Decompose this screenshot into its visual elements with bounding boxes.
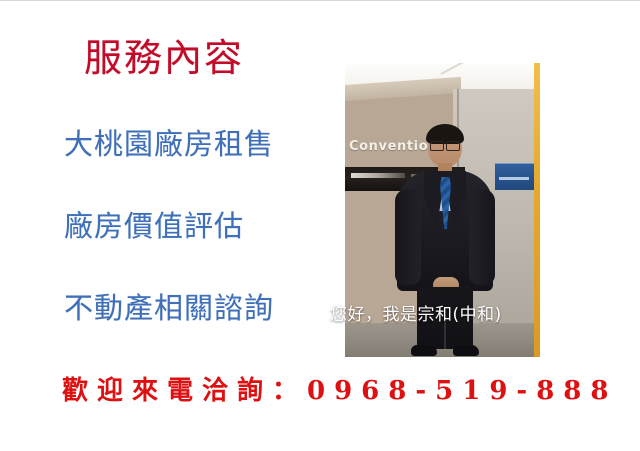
plaque-text-line — [499, 177, 529, 180]
glasses-icon — [430, 141, 460, 149]
service-list: 大桃園廠房租售 廠房價值評估 不動產相關諮詢 — [64, 127, 324, 325]
service-item-3: 不動產相關諮詢 — [64, 291, 324, 325]
service-item-2: 廠房價值評估 — [64, 209, 324, 243]
shoe-right — [453, 345, 479, 356]
contact-phone-line: 歡迎來電洽詢：0968-519-888 — [62, 375, 618, 407]
service-item-1: 大桃園廠房租售 — [64, 127, 324, 161]
arm-left — [395, 189, 421, 285]
gold-accent-strip — [534, 63, 540, 357]
page-title: 服務內容 — [84, 35, 244, 81]
arm-right — [469, 189, 495, 285]
slide-canvas: 服務內容 大桃園廠房租售 廠房價值評估 不動產相關諮詢 Convention C… — [0, 0, 640, 451]
photo-caption: 您好，我是宗和(中和) — [330, 304, 502, 326]
shoe-left — [411, 345, 437, 356]
